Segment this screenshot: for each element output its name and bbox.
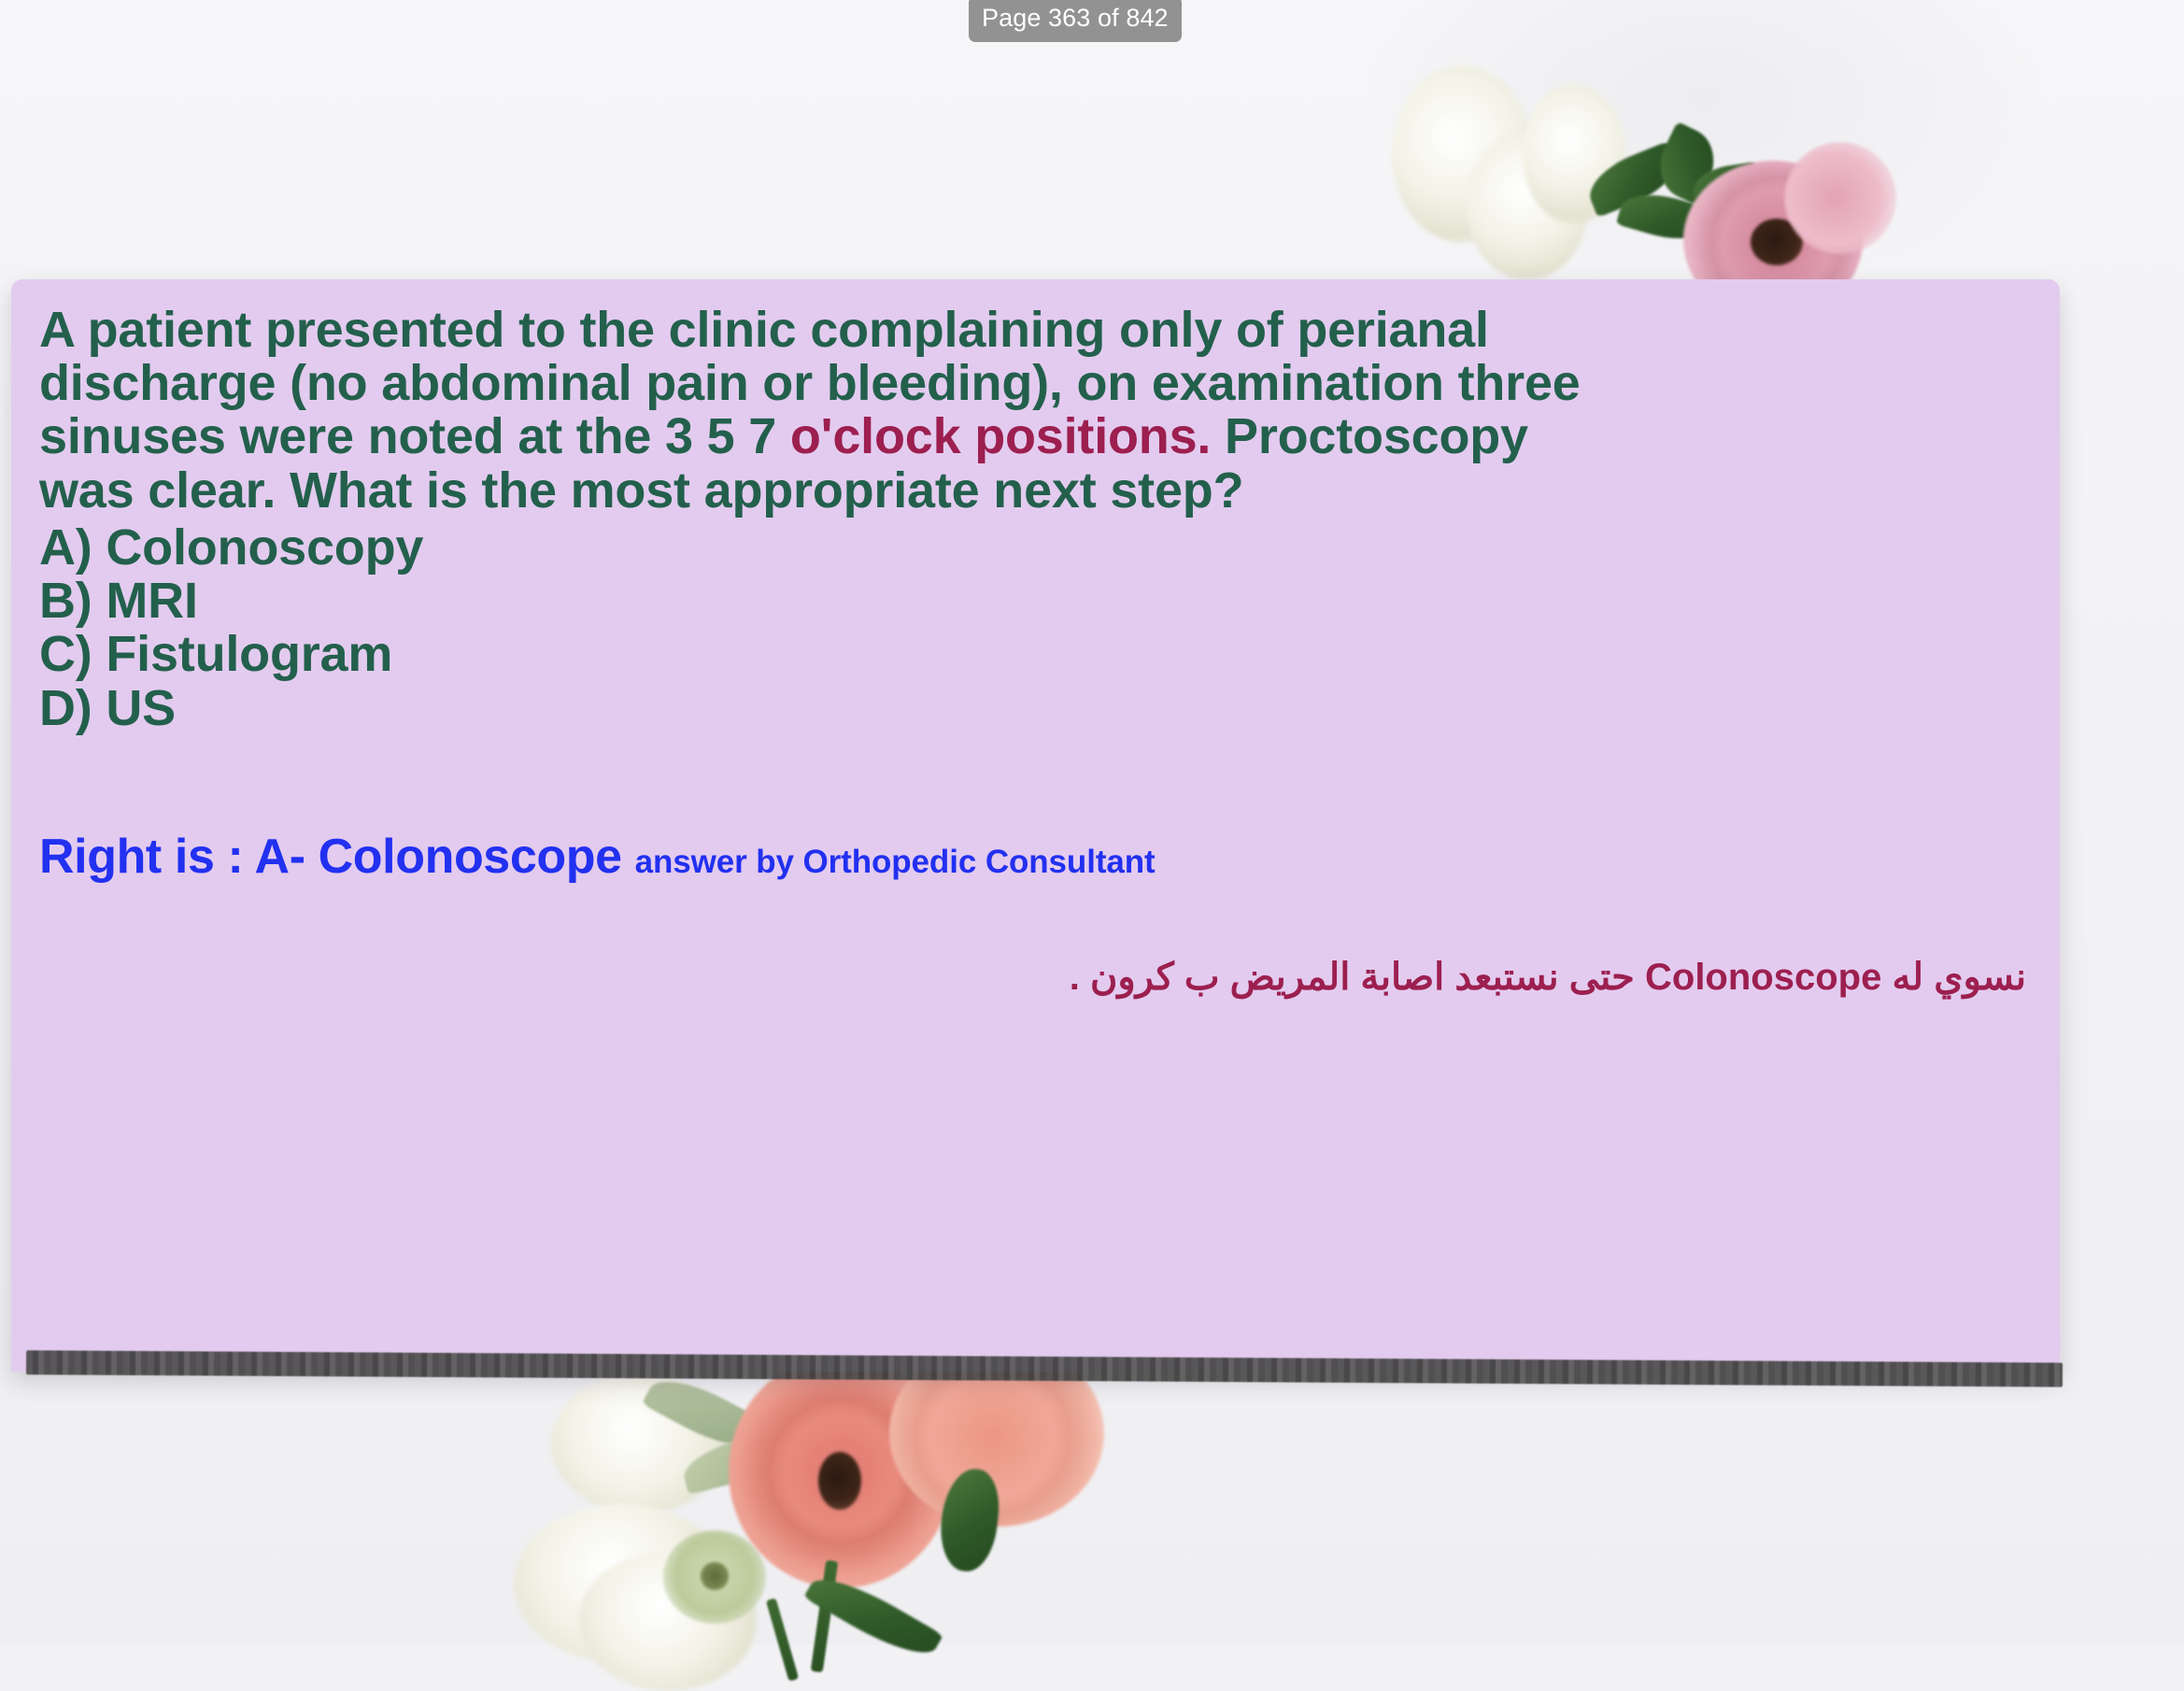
correct-answer-row: Right is : A- Colonoscopeanswer by Ortho… <box>39 832 2032 881</box>
page-indicator: Page 363 of 842 <box>969 0 1182 42</box>
correct-answer-text: Right is : A- Colonoscope <box>39 830 622 884</box>
arabic-explanation-note: نسوي له Colonoscope حتى نستبعد اصابة الم… <box>39 954 2032 1001</box>
question-line-3: sinuses were noted at the 3 5 7 o'clock … <box>39 410 2032 463</box>
answer-options-list: A) Colonoscopy B) MRI C) Fistulogram D) … <box>39 521 2032 735</box>
question-line-1: A patient presented to the clinic compla… <box>39 304 2032 357</box>
question-line-2: discharge (no abdominal pain or bleeding… <box>39 357 2032 410</box>
question-card: A patient presented to the clinic compla… <box>11 279 2060 1371</box>
question-line-3-accent: o'clock positions. <box>790 408 1211 464</box>
option-a[interactable]: A) Colonoscopy <box>39 521 2032 575</box>
question-line-3-plain: sinuses were noted at the 3 5 7 <box>39 408 790 464</box>
question-block: A patient presented to the clinic compla… <box>39 304 2032 518</box>
answer-byline: answer by Orthopedic Consultant <box>635 844 1156 880</box>
question-line-3-tail: Proctoscopy <box>1211 408 1528 464</box>
option-c[interactable]: C) Fistulogram <box>39 628 2032 681</box>
option-b[interactable]: B) MRI <box>39 575 2032 628</box>
question-line-4: was clear. What is the most appropriate … <box>39 464 2032 518</box>
option-d[interactable]: D) US <box>39 682 2032 735</box>
